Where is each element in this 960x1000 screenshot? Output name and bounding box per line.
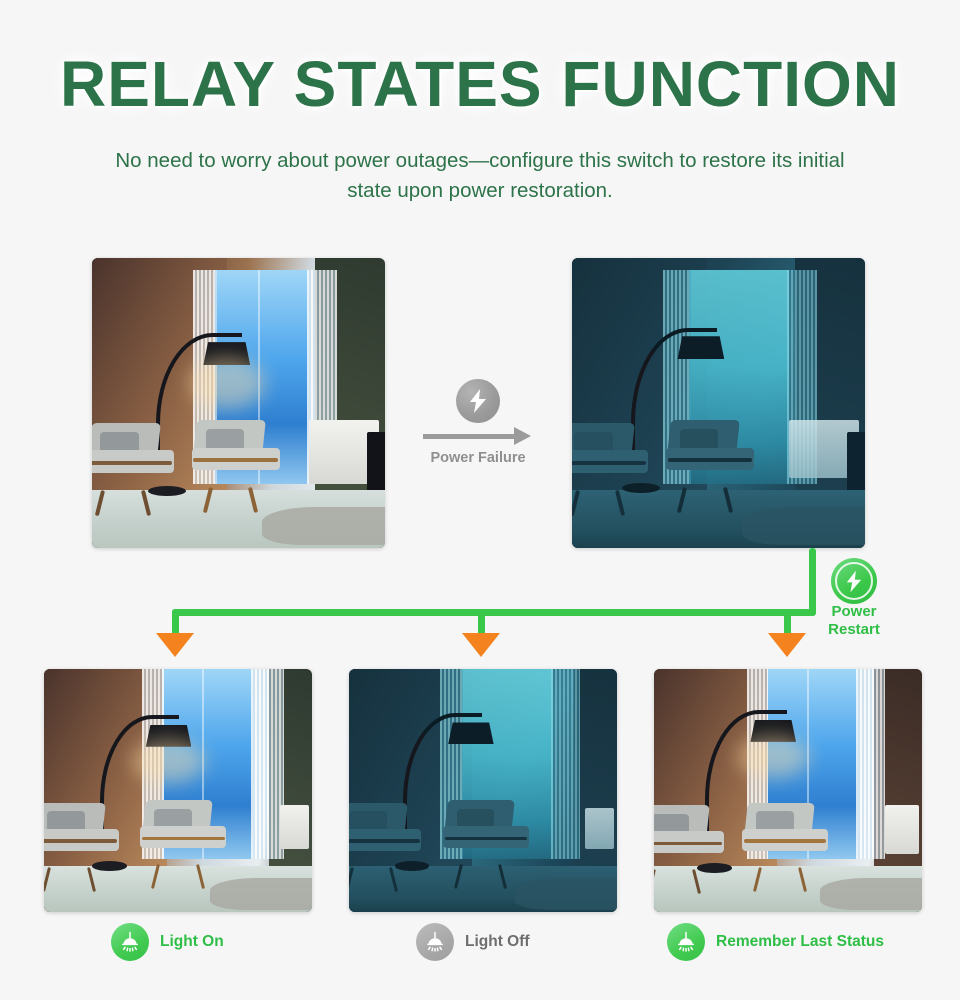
power-restart-label-line1: Power	[804, 603, 904, 621]
connector-horizontal-bus	[172, 609, 813, 616]
pendant-lamp-icon	[111, 923, 149, 961]
chair-left	[349, 803, 421, 876]
curtain-right	[856, 669, 885, 859]
arrow-head	[514, 427, 531, 445]
page-subtitle: No need to worry about power outages—con…	[100, 146, 860, 206]
chair-arm	[92, 461, 172, 465]
scene-living-room-dark	[349, 669, 617, 912]
chair-arm	[668, 458, 752, 462]
rug	[515, 878, 617, 910]
status-label: Light On	[160, 933, 224, 951]
tv	[847, 432, 865, 496]
lamp-glow	[189, 357, 265, 409]
lightning-bolt-icon	[468, 389, 488, 413]
chair-right	[140, 800, 226, 873]
power-restart-icon-circle	[831, 558, 877, 604]
status-light-on: Light On	[111, 923, 224, 961]
photo-outcome-light-off	[349, 669, 617, 912]
rug	[820, 878, 922, 910]
infographic-root: RELAY STATES FUNCTION No need to worry a…	[0, 0, 960, 1000]
chair-arm	[572, 461, 646, 465]
chair-arm	[349, 839, 420, 843]
status-label: Remember Last Status	[716, 933, 884, 951]
power-restart-label-line2: Restart	[804, 621, 904, 639]
lamp-shade	[677, 336, 724, 359]
pendant-lamp-glyph	[423, 930, 447, 954]
pendant-lamp-glyph	[674, 930, 698, 954]
chair-arm	[44, 839, 117, 843]
curtain-right	[551, 669, 580, 859]
chair-arm	[445, 837, 527, 841]
cabinet	[280, 805, 309, 849]
chair-arm	[654, 842, 722, 846]
rug	[262, 507, 385, 545]
status-remember-last-status: Remember Last Status	[667, 923, 884, 961]
photo-before-outage	[92, 258, 385, 548]
chair-right	[443, 800, 529, 873]
page-title: RELAY STATES FUNCTION	[0, 50, 960, 118]
cabinet	[585, 808, 614, 849]
status-label: Light Off	[465, 933, 530, 951]
arrow-down-right	[768, 633, 806, 657]
arrow-shaft	[423, 434, 515, 439]
cabinet	[885, 805, 920, 854]
photo-after-outage	[572, 258, 865, 548]
photo-outcome-light-on	[44, 669, 312, 912]
pendant-lamp-icon	[416, 923, 454, 961]
power-failure-arrow	[423, 432, 531, 441]
status-light-off: Light Off	[416, 923, 530, 961]
scene-living-room-dark	[572, 258, 865, 548]
chair-right	[666, 420, 754, 495]
arrow-down-left	[156, 633, 194, 657]
scene-living-room-lamp-on	[44, 669, 312, 912]
chair-left	[572, 423, 648, 498]
chair-left	[654, 805, 724, 878]
chair-arm	[744, 839, 826, 843]
lamp-glow	[132, 739, 204, 783]
chair-right	[742, 803, 828, 876]
chair-left	[44, 803, 119, 876]
chair-arm	[142, 837, 224, 841]
chair-right	[192, 420, 280, 495]
rug	[210, 878, 312, 910]
lightning-bolt-icon	[845, 570, 863, 593]
chair-arm	[193, 458, 277, 462]
scene-living-room-lamp-on	[654, 669, 922, 912]
power-failure-icon-circle	[456, 379, 500, 423]
photo-outcome-remember-last-status	[654, 669, 922, 912]
scene-living-room-lamp-on	[92, 258, 385, 548]
rug	[742, 507, 865, 545]
lamp-shade	[448, 722, 494, 744]
arrow-down-middle	[462, 633, 500, 657]
pendant-lamp-icon	[667, 923, 705, 961]
power-failure-label: Power Failure	[403, 450, 553, 466]
chair-left	[92, 423, 174, 498]
pendant-lamp-glyph	[118, 930, 142, 954]
